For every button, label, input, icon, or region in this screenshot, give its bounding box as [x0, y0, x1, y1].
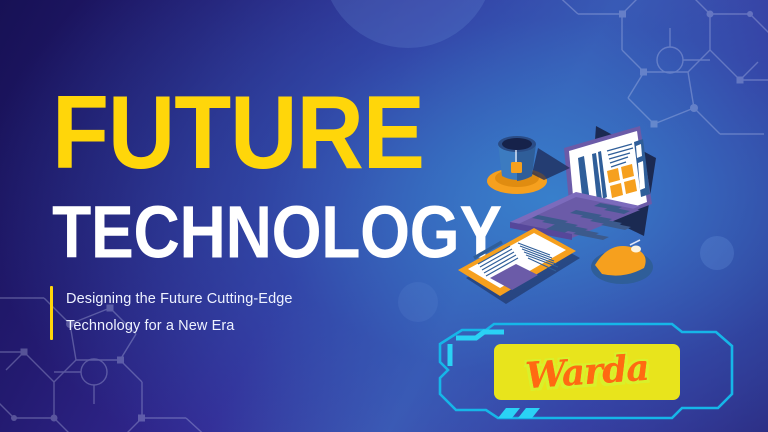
- future-technology-banner: FUTURE TECHNOLOGY Designing the Future C…: [0, 0, 768, 432]
- headline-secondary: TECHNOLOGY: [52, 200, 502, 267]
- subtitle-line-2: Technology for a New Era: [66, 313, 293, 340]
- subtitle-accent-bar: [50, 286, 53, 340]
- computer-mouse-icon: [591, 240, 653, 284]
- coffee-cup-icon: [487, 136, 570, 194]
- clipboard-document-icon: [458, 228, 580, 304]
- subtitle-line-1: Designing the Future Cutting-Edge: [66, 286, 293, 313]
- logo-badge[interactable]: Warda: [432, 322, 742, 424]
- decorative-circle-right: [700, 236, 734, 270]
- isometric-workspace-illustration: [444, 118, 690, 318]
- subtitle-text: Designing the Future Cutting-Edge Techno…: [66, 286, 293, 340]
- subtitle-block: Designing the Future Cutting-Edge Techno…: [50, 286, 293, 340]
- headline-primary: FUTURE: [52, 88, 510, 177]
- headline-block: FUTURE TECHNOLOGY: [52, 88, 484, 255]
- decorative-circle-mid: [398, 282, 438, 322]
- decorative-circle-top: [322, 0, 494, 48]
